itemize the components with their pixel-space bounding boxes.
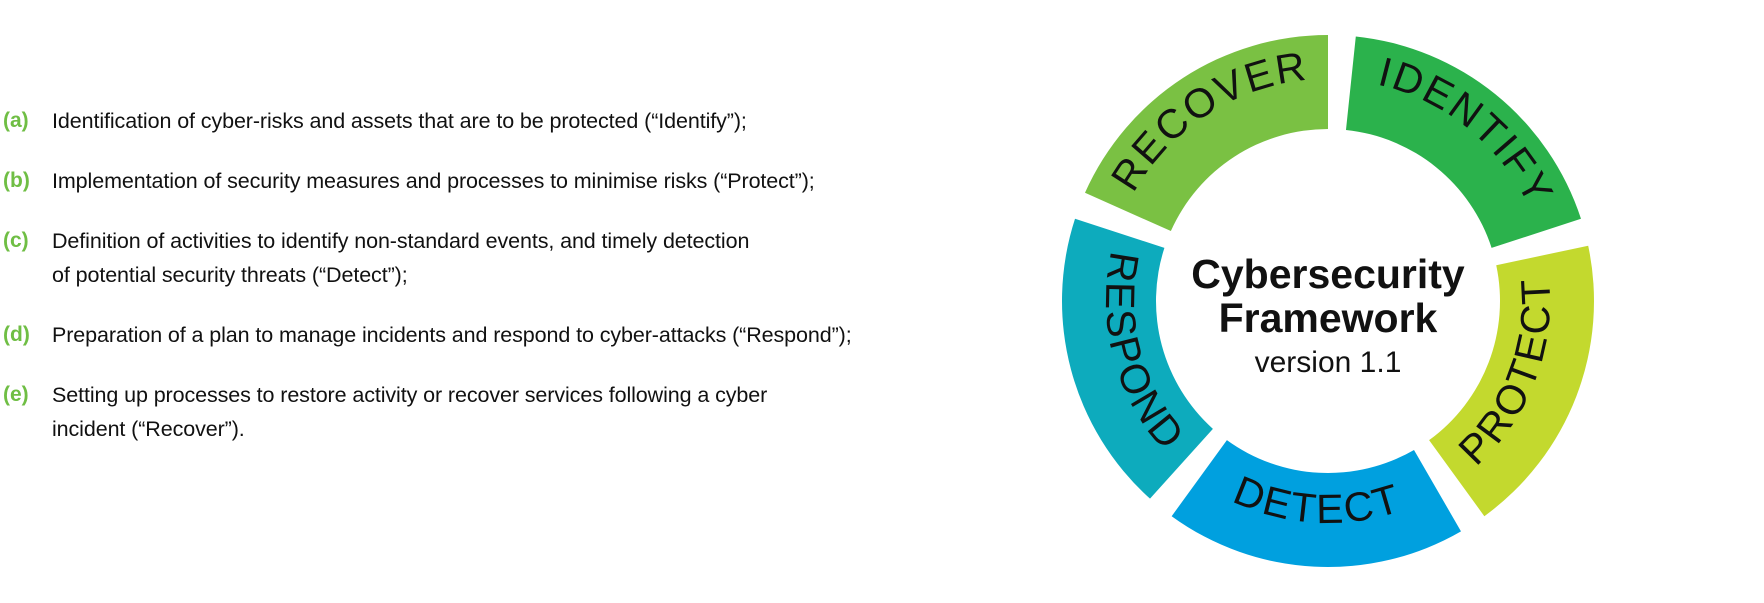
list-item-marker: (e) <box>0 378 52 412</box>
clause-list-panel: (a) Identification of cyber-risks and as… <box>0 0 1040 603</box>
list-item: (e) Setting up processes to restore acti… <box>0 378 1030 446</box>
list-item-marker: (c) <box>0 224 52 258</box>
clause-list: (a) Identification of cyber-risks and as… <box>0 104 1030 472</box>
center-title-line2: Framework <box>1219 295 1438 341</box>
list-item-text: Implementation of security measures and … <box>52 164 1030 198</box>
list-item: (c) Definition of activities to identify… <box>0 224 1030 292</box>
list-item-marker: (b) <box>0 164 52 198</box>
center-title-line1: Cybersecurity <box>1191 251 1465 297</box>
donut-chart: RECOVER IDENTIFY PROTECT DETECT RESPOND … <box>1028 6 1628 596</box>
donut-center-text: Cybersecurity Framework version 1.1 <box>1191 251 1465 379</box>
list-item-marker: (a) <box>0 104 52 138</box>
list-item: (a) Identification of cyber-risks and as… <box>0 104 1030 138</box>
center-subtitle: version 1.1 <box>1255 346 1402 379</box>
list-item: (d) Preparation of a plan to manage inci… <box>0 318 1030 352</box>
list-item-marker: (d) <box>0 318 52 352</box>
list-item-text: Setting up processes to restore activity… <box>52 378 1030 446</box>
cybersecurity-framework-donut-panel: RECOVER IDENTIFY PROTECT DETECT RESPOND … <box>1040 0 1764 603</box>
list-item: (b) Implementation of security measures … <box>0 164 1030 198</box>
list-item-text: Identification of cyber-risks and assets… <box>52 104 1030 138</box>
infographic-page: (a) Identification of cyber-risks and as… <box>0 0 1764 603</box>
list-item-text: Preparation of a plan to manage incident… <box>52 318 1030 352</box>
list-item-text: Definition of activities to identify non… <box>52 224 1030 292</box>
